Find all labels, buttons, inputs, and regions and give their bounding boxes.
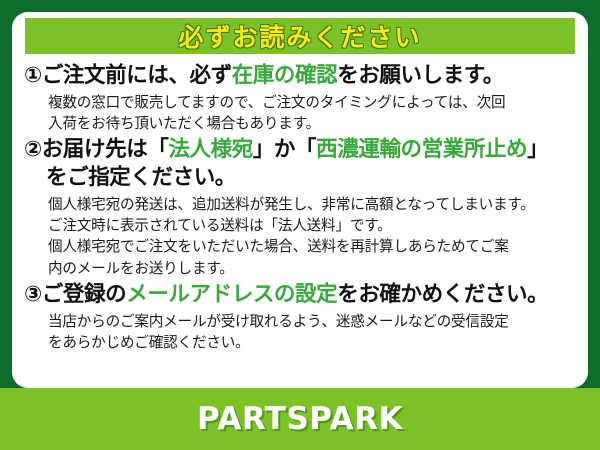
- notice-item: ③ご登録のメールアドレスの設定をお確かめください。当店からのご案内メールが受け取…: [24, 281, 576, 353]
- notice-panel: 必ずお読みください ①ご注文前には、必ず在庫の確認をお願いします。複数の窓口で販…: [12, 12, 588, 388]
- notice-marker: ③: [24, 282, 42, 307]
- notice-heading-highlight: 西濃運輸の営業所止め: [316, 137, 527, 162]
- notice-heading-highlight: 法人様宛: [168, 137, 252, 162]
- notice-heading-highlight: 在庫の確認: [232, 63, 338, 88]
- notice-list: ①ご注文前には、必ず在庫の確認をお願いします。複数の窓口で販売してますので、ご注…: [18, 62, 582, 384]
- notice-item: ②お届け先は「法人様宛」か「西濃運輸の営業所止め」をご指定ください。個人様宅宛の…: [24, 136, 576, 279]
- notice-heading-text: をお願いします。: [337, 63, 504, 88]
- notice-body-line: 複数の窓口で販売してますので、ご注文のタイミングによっては、次回: [48, 92, 576, 113]
- notice-heading-text: 」: [527, 137, 548, 162]
- notice-heading: ②お届け先は「法人様宛」か「西濃運輸の営業所止め」をご指定ください。: [24, 136, 576, 192]
- notice-body-line: をあらかじめご確認ください。: [48, 332, 576, 353]
- footer-band: PARTSPARK: [0, 388, 600, 450]
- notice-heading-line2: をご指定ください。: [24, 164, 576, 192]
- notice-heading: ③ご登録のメールアドレスの設定をお確かめください。: [24, 281, 576, 309]
- notice-body-line: 個人様宅宛の発送は、追加送料が発生し、非常に高額となってしまいます。: [48, 194, 576, 215]
- notice-marker: ①: [24, 63, 42, 88]
- notice-heading-text: をお確かめください。: [337, 282, 548, 307]
- notice-heading-text: ご登録の: [42, 282, 126, 307]
- banner-title: 必ずお読みください: [178, 18, 421, 54]
- notice-body-line: 当店からのご案内メールが受け取れるよう、迷惑メールなどの受信設定: [48, 311, 576, 332]
- notice-body-line: 入荷をお待ち頂いただく場合もあります。: [48, 113, 576, 134]
- notice-heading: ①ご注文前には、必ず在庫の確認をお願いします。: [24, 62, 576, 90]
- notice-heading-text: お届け先は「: [42, 137, 169, 162]
- notice-body-line: 内のメールをお送りします。: [48, 258, 576, 279]
- notice-body-line: ご注文時に表示されている送料は「法人送料」です。: [48, 215, 576, 236]
- notice-body-line: 個人様宅宛でご注文をいただいた場合、送料を再計算しあらためてご案: [48, 236, 576, 257]
- notice-marker: ②: [24, 137, 42, 162]
- notice-body: 複数の窓口で販売してますので、ご注文のタイミングによっては、次回入荷をお待ち頂い…: [24, 92, 576, 134]
- brand-logo-text: PARTSPARK: [197, 401, 403, 437]
- notice-banner: 必ずお読みください ①ご注文前には、必ず在庫の確認をお願いします。複数の窓口で販…: [0, 0, 600, 450]
- notice-body: 個人様宅宛の発送は、追加送料が発生し、非常に高額となってしまいます。ご注文時に表…: [24, 194, 576, 279]
- notice-item: ①ご注文前には、必ず在庫の確認をお願いします。複数の窓口で販売してますので、ご注…: [24, 62, 576, 134]
- notice-body: 当店からのご案内メールが受け取れるよう、迷惑メールなどの受信設定をあらかじめご確…: [24, 311, 576, 353]
- title-bar: 必ずお読みください: [25, 18, 575, 54]
- notice-heading-text: ご注文前には、必ず: [42, 63, 232, 88]
- notice-heading-highlight: メールアドレスの設定: [126, 282, 337, 307]
- notice-heading-text: 」か「: [253, 137, 316, 162]
